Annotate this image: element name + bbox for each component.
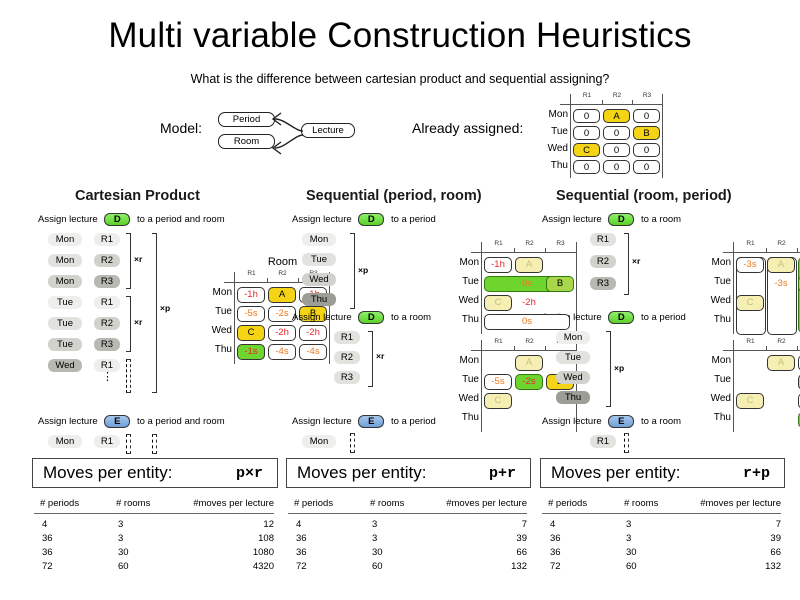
seq-rp-grid2-left-line [733, 340, 734, 432]
seq-pr-grid1-cell: -1h [484, 257, 512, 273]
cartesian-grid-cell: -1h [237, 287, 265, 303]
cell-moves: 39 [770, 533, 781, 544]
cell-periods: 36 [42, 547, 53, 558]
table-row: 7260132 [286, 561, 531, 575]
seq-pr-grid2-row-header: Wed [447, 393, 479, 404]
column-title-cartesian: Cartesian Product [75, 188, 200, 204]
list-pill-period: Mon [48, 233, 82, 246]
multiplier-r-2: ×r [134, 317, 142, 327]
seq-rp-grid1-header-rule [723, 252, 800, 253]
list-pill-period: Mon [302, 435, 336, 448]
table-header-moves: #moves per lecture [193, 498, 274, 509]
cartesian-grid-cell: -2h [299, 325, 327, 341]
bracket-e-2 [152, 434, 157, 454]
seq-rp-grid1-col-header: R1 [735, 240, 766, 247]
seq-pr-grid1-cell: -2h [515, 295, 543, 311]
table-row: 437 [540, 519, 785, 533]
moves-data-table: # periods# rooms#moves per lecture431236… [32, 498, 278, 578]
table-row: 36339 [540, 533, 785, 547]
lecture-pill-d[interactable]: D [608, 213, 634, 226]
cell-rooms: 60 [118, 561, 129, 572]
seq-rp-grid1-col-r2-frame [767, 257, 797, 335]
moves-per-entity-formula: r+p [743, 465, 770, 482]
list-pill-period: Mon [556, 331, 590, 344]
page-title: Multi variable Construction Heuristics [0, 16, 800, 56]
seq-rp-grid1-row-header: Tue [699, 276, 731, 287]
list-pill-room: R1 [334, 331, 360, 344]
seq-pr-grid1-cell: B [546, 276, 574, 292]
seq-rp-grid1-left-line [733, 242, 734, 334]
cartesian-grid-col-header: R2 [267, 270, 298, 277]
list-pill-period: Mon [48, 435, 82, 448]
seq-rp-grid2-col-header: R2 [766, 338, 797, 345]
cell-moves: 1080 [253, 547, 274, 558]
assign-suffix: to a room [638, 214, 681, 225]
moves-per-entity-label: Moves per entity: [551, 463, 680, 483]
lecture-pill-d[interactable]: D [358, 213, 384, 226]
list-pill-period: Tue [556, 351, 590, 364]
multiplier-p: ×p [160, 303, 170, 313]
cell-periods: 4 [296, 519, 301, 530]
seq-pr-grid1-cell: 0s [484, 314, 570, 330]
assign-suffix: to a period [388, 214, 436, 225]
already-assigned-row-header: Wed [536, 143, 568, 154]
table-row: 36339 [286, 533, 531, 547]
assign-prefix: Assign lecture [292, 312, 354, 323]
seq-rp-grid2-col-header: R1 [735, 338, 766, 345]
seq-pr-grid2-cell: A [515, 355, 543, 371]
table-header-rooms: # rooms [624, 498, 658, 509]
seq-pr-grid1-row-header: Thu [447, 314, 479, 325]
list-pill-room: R1 [94, 435, 120, 448]
assign-line-d1-seq-rp: Assign lecture D to a room [542, 213, 681, 226]
assign-suffix: to a period and room [134, 214, 224, 225]
seq-rp-grid1-row-header: Thu [699, 314, 731, 325]
cell-rooms: 30 [118, 547, 129, 558]
table-row: 437 [286, 519, 531, 533]
already-assigned-cell: 0 [603, 143, 630, 157]
cell-periods: 72 [42, 561, 53, 572]
cartesian-grid-tick [267, 278, 268, 282]
multiplier-p: ×p [358, 265, 368, 275]
list-pill-period: Thu [302, 293, 336, 306]
seq-pr-grid1-col-header: R2 [514, 240, 545, 247]
multiplier-r: ×r [632, 256, 640, 266]
table-row: 72604320 [32, 561, 278, 575]
seq-rp-grid1-col-header: R2 [766, 240, 797, 247]
cell-periods: 72 [296, 561, 307, 572]
bracket-e [350, 433, 355, 453]
assign-suffix: to a period and room [134, 416, 224, 427]
list-pill-room: R3 [94, 338, 120, 351]
list-pill-period: Wed [302, 273, 336, 286]
assign-line-e-cartesian: Assign lecture E to a period and room [38, 415, 225, 428]
cartesian-grid-cell: A [268, 287, 296, 303]
seq-rp-grid2-row-header: Mon [699, 355, 731, 366]
seq-rp-grid2-row-header: Tue [699, 374, 731, 385]
lecture-pill-d[interactable]: D [104, 213, 130, 226]
seq-rp-grid2-cell: A [767, 355, 795, 371]
cell-periods: 36 [550, 547, 561, 558]
cell-rooms: 3 [626, 533, 631, 544]
list-pill-period: Wed [48, 359, 82, 372]
page-subtitle: What is the difference between cartesian… [0, 72, 800, 86]
seq-pr-grid1-cell: C [484, 295, 512, 311]
list-pill-period: Mon [48, 275, 82, 288]
assign-suffix: to a period [638, 312, 686, 323]
seq-rp-grid1-col-r1-frame [736, 257, 766, 335]
list-pill-room: R1 [94, 233, 120, 246]
table-row: 363066 [286, 547, 531, 561]
seq-pr-grid1-col-header: R3 [545, 240, 576, 247]
cartesian-grid-cell: -2h [268, 325, 296, 341]
list-pill-room: R2 [590, 255, 616, 268]
list-pill-room: R2 [94, 317, 120, 330]
table-header-rooms: # rooms [116, 498, 150, 509]
seq-pr-grid1-cell: A [515, 257, 543, 273]
bracket-r-3 [126, 359, 131, 393]
assign-suffix: to a period [388, 416, 436, 427]
seq-rp-grid2-tick [766, 346, 767, 350]
already-assigned-col-header: R1 [572, 92, 602, 99]
list-pill-period: Tue [48, 338, 82, 351]
cartesian-grid-cell: -4s [268, 344, 296, 360]
table-header-rule [288, 513, 527, 514]
seq-rp-grid2-header-rule [723, 350, 800, 351]
seq-pr-grid2-cell: C [484, 393, 512, 409]
column-title-seq-period-room: Sequential (period, room) [306, 188, 482, 204]
already-assigned-cell: 0 [573, 126, 600, 140]
model-label: Model: [160, 120, 202, 136]
moves-per-entity-box: Moves per entity:p×r [32, 458, 278, 488]
already-assigned-tick [602, 100, 603, 104]
cell-moves: 12 [263, 519, 274, 530]
table-row: 7260132 [540, 561, 785, 575]
slide-root: Multi variable Construction Heuristics W… [0, 0, 800, 600]
moves-per-entity-formula: p×r [236, 465, 263, 482]
cartesian-grid-cell: C [237, 325, 265, 341]
seq-pr-grid2-row-header: Mon [447, 355, 479, 366]
cartesian-grid-cell: -4s [299, 344, 327, 360]
moves-per-entity-label: Moves per entity: [43, 463, 172, 483]
cell-rooms: 60 [372, 561, 383, 572]
cell-moves: 39 [516, 533, 527, 544]
assign-line-e-seq-pr: Assign lecture E to a period [292, 415, 436, 428]
moves-per-entity-box: Moves per entity:p+r [286, 458, 531, 488]
seq-rp-grid1-tick [766, 248, 767, 252]
cartesian-grid-row-header: Mon [200, 287, 232, 298]
model-link-arrows [255, 105, 315, 165]
cell-rooms: 3 [372, 533, 377, 544]
cell-rooms: 3 [626, 519, 631, 530]
seq-pr-grid1-header-rule [471, 252, 576, 253]
cell-rooms: 3 [118, 519, 123, 530]
list-pill-period: Tue [48, 317, 82, 330]
list-pill-period: Mon [302, 233, 336, 246]
already-assigned-cell: 0 [573, 160, 600, 174]
multiplier-r: ×r [376, 351, 384, 361]
list-pill-room: R1 [590, 233, 616, 246]
moves-per-entity-box: Moves per entity:r+p [540, 458, 785, 488]
assign-prefix: Assign lecture [542, 416, 604, 427]
lecture-pill-e[interactable]: E [104, 415, 130, 428]
list-pill-room: R3 [590, 277, 616, 290]
bracket-p [152, 233, 157, 393]
seq-pr-grid1-row-header: Mon [447, 257, 479, 268]
assign-prefix: Assign lecture [292, 214, 354, 225]
assign-line-d2-seq-pr: Assign lecture D to a room [292, 311, 431, 324]
table-header-periods: # periods [40, 498, 79, 509]
cartesian-grid-col-header: R1 [236, 270, 267, 277]
cell-moves: 132 [511, 561, 527, 572]
seq-pr-grid1-row-header: Wed [447, 295, 479, 306]
seq-pr-grid2-row-header: Thu [447, 412, 479, 423]
assign-prefix: Assign lecture [542, 214, 604, 225]
already-assigned-cell: 0 [603, 126, 630, 140]
assign-line-d1-seq-pr: Assign lecture D to a period [292, 213, 436, 226]
already-assigned-cell: 0 [633, 109, 660, 123]
seq-rp-grid1-tick [797, 248, 798, 252]
table-header-periods: # periods [548, 498, 587, 509]
cell-periods: 36 [42, 533, 53, 544]
bracket-e-1 [126, 434, 131, 454]
list-pill-room: R1 [94, 296, 120, 309]
list-pill-period: Tue [48, 296, 82, 309]
cell-rooms: 30 [372, 547, 383, 558]
bracket-r [368, 331, 373, 387]
table-header-moves: #moves per lecture [700, 498, 781, 509]
already-assigned-row-header: Tue [536, 126, 568, 137]
seq-pr-grid2-cell: -2s [515, 374, 543, 390]
seq-pr-grid1-tick [545, 248, 546, 252]
already-assigned-cell: 0 [633, 143, 660, 157]
cartesian-grid-cell: -1s [237, 344, 265, 360]
list-pill-room: R1 [590, 435, 616, 448]
lecture-pill-d[interactable]: D [608, 311, 634, 324]
lecture-pill-e[interactable]: E [358, 415, 384, 428]
seq-rp-grid1-row-header: Mon [699, 257, 731, 268]
cell-rooms: 3 [118, 533, 123, 544]
seq-pr-grid2-left-line [481, 340, 482, 432]
list-pill-room: R3 [94, 275, 120, 288]
list-pill-period: Mon [48, 254, 82, 267]
cell-periods: 4 [42, 519, 47, 530]
multiplier-r-1: ×r [134, 254, 142, 264]
seq-rp-grid2-tick [797, 346, 798, 350]
cartesian-grid-cell: -5s [237, 306, 265, 322]
multiplier-p: ×p [614, 363, 624, 373]
cell-moves: 66 [770, 547, 781, 558]
cell-moves: 7 [522, 519, 527, 530]
already-assigned-left-line [570, 94, 571, 178]
table-row: 4312 [32, 519, 278, 533]
cartesian-grid-left-line [234, 272, 235, 364]
already-assigned-row-header: Thu [536, 160, 568, 171]
already-assigned-cell: 0 [633, 160, 660, 174]
seq-rp-grid2-row-header: Thu [699, 412, 731, 423]
already-assigned-cell: A [603, 109, 630, 123]
assign-prefix: Assign lecture [38, 416, 100, 427]
cartesian-grid-row-header: Thu [200, 344, 232, 355]
cell-moves: 66 [516, 547, 527, 558]
bracket-e [624, 433, 629, 453]
cartesian-grid-row-header: Wed [200, 325, 232, 336]
assign-prefix: Assign lecture [38, 214, 100, 225]
cartesian-grid-row-header: Tue [200, 306, 232, 317]
cell-periods: 72 [550, 561, 561, 572]
seq-pr-grid1-tick [514, 248, 515, 252]
list-pill-period: Wed [556, 371, 590, 384]
bracket-r-1 [126, 233, 131, 289]
seq-pr-grid2-col-header: R1 [483, 338, 514, 345]
list-pill-room: R2 [334, 351, 360, 364]
seq-pr-grid1-col-header: R1 [483, 240, 514, 247]
assign-suffix: to a room [388, 312, 431, 323]
cell-periods: 36 [296, 547, 307, 558]
moves-per-entity-formula: p+r [489, 465, 516, 482]
bracket-p [350, 233, 355, 309]
already-assigned-label: Already assigned: [412, 120, 523, 136]
table-header-rule [542, 513, 781, 514]
table-header-periods: # periods [294, 498, 333, 509]
assign-prefix: Assign lecture [292, 416, 354, 427]
cell-periods: 36 [550, 533, 561, 544]
cell-moves: 132 [765, 561, 781, 572]
cell-rooms: 60 [626, 561, 637, 572]
assign-line-d-cartesian: Assign lecture D to a period and room [38, 213, 225, 226]
seq-pr-grid2-cell: -5s [484, 374, 512, 390]
cartesian-grid-tick [298, 278, 299, 282]
cell-moves: 7 [776, 519, 781, 530]
already-assigned-cell: B [633, 126, 660, 140]
assign-suffix: to a room [638, 416, 681, 427]
list-pill-period: Tue [302, 253, 336, 266]
table-row: 363066 [540, 547, 785, 561]
cell-periods: 4 [550, 519, 555, 530]
already-assigned-tick [632, 100, 633, 104]
bracket-r-2 [126, 296, 131, 352]
table-row: 363108 [32, 533, 278, 547]
lecture-pill-d[interactable]: D [358, 311, 384, 324]
table-row: 36301080 [32, 547, 278, 561]
moves-data-table: # periods# rooms#moves per lecture437363… [286, 498, 531, 578]
list-pill-room: R2 [94, 254, 120, 267]
already-assigned-cell: C [573, 143, 600, 157]
list-ellipsis: ⋮ [102, 375, 113, 380]
moves-data-table: # periods# rooms#moves per lecture437363… [540, 498, 785, 578]
cell-rooms: 3 [372, 519, 377, 530]
cell-periods: 36 [296, 533, 307, 544]
seq-pr-grid1-left-line [481, 242, 482, 334]
already-assigned-cell: 0 [603, 160, 630, 174]
lecture-pill-e[interactable]: E [608, 415, 634, 428]
bracket-r [624, 233, 629, 295]
seq-rp-grid2-row-header: Wed [699, 393, 731, 404]
column-title-seq-room-period: Sequential (room, period) [556, 188, 732, 204]
seq-pr-grid2-row-header: Tue [447, 374, 479, 385]
cell-rooms: 30 [626, 547, 637, 558]
seq-pr-grid2-col-header: R2 [514, 338, 545, 345]
list-pill-period: Thu [556, 391, 590, 404]
seq-pr-grid1-row-header: Tue [447, 276, 479, 287]
table-header-rooms: # rooms [370, 498, 404, 509]
list-pill-room: R3 [334, 371, 360, 384]
seq-pr-grid2-tick [514, 346, 515, 350]
cell-moves: 4320 [253, 561, 274, 572]
already-assigned-col-header: R2 [602, 92, 632, 99]
already-assigned-cell: 0 [573, 109, 600, 123]
already-assigned-header-rule [560, 104, 662, 105]
bracket-p [606, 331, 611, 407]
seq-pr-grid2-tick [545, 346, 546, 350]
seq-rp-grid1-row-header: Wed [699, 295, 731, 306]
assign-line-e-seq-rp: Assign lecture E to a room [542, 415, 681, 428]
table-header-rule [34, 513, 274, 514]
cell-moves: 108 [258, 533, 274, 544]
already-assigned-col-header: R3 [632, 92, 662, 99]
table-header-moves: #moves per lecture [446, 498, 527, 509]
already-assigned-right-line [662, 94, 663, 178]
seq-rp-grid2-cell: C [736, 393, 764, 409]
moves-per-entity-label: Moves per entity: [297, 463, 426, 483]
already-assigned-row-header: Mon [536, 109, 568, 120]
